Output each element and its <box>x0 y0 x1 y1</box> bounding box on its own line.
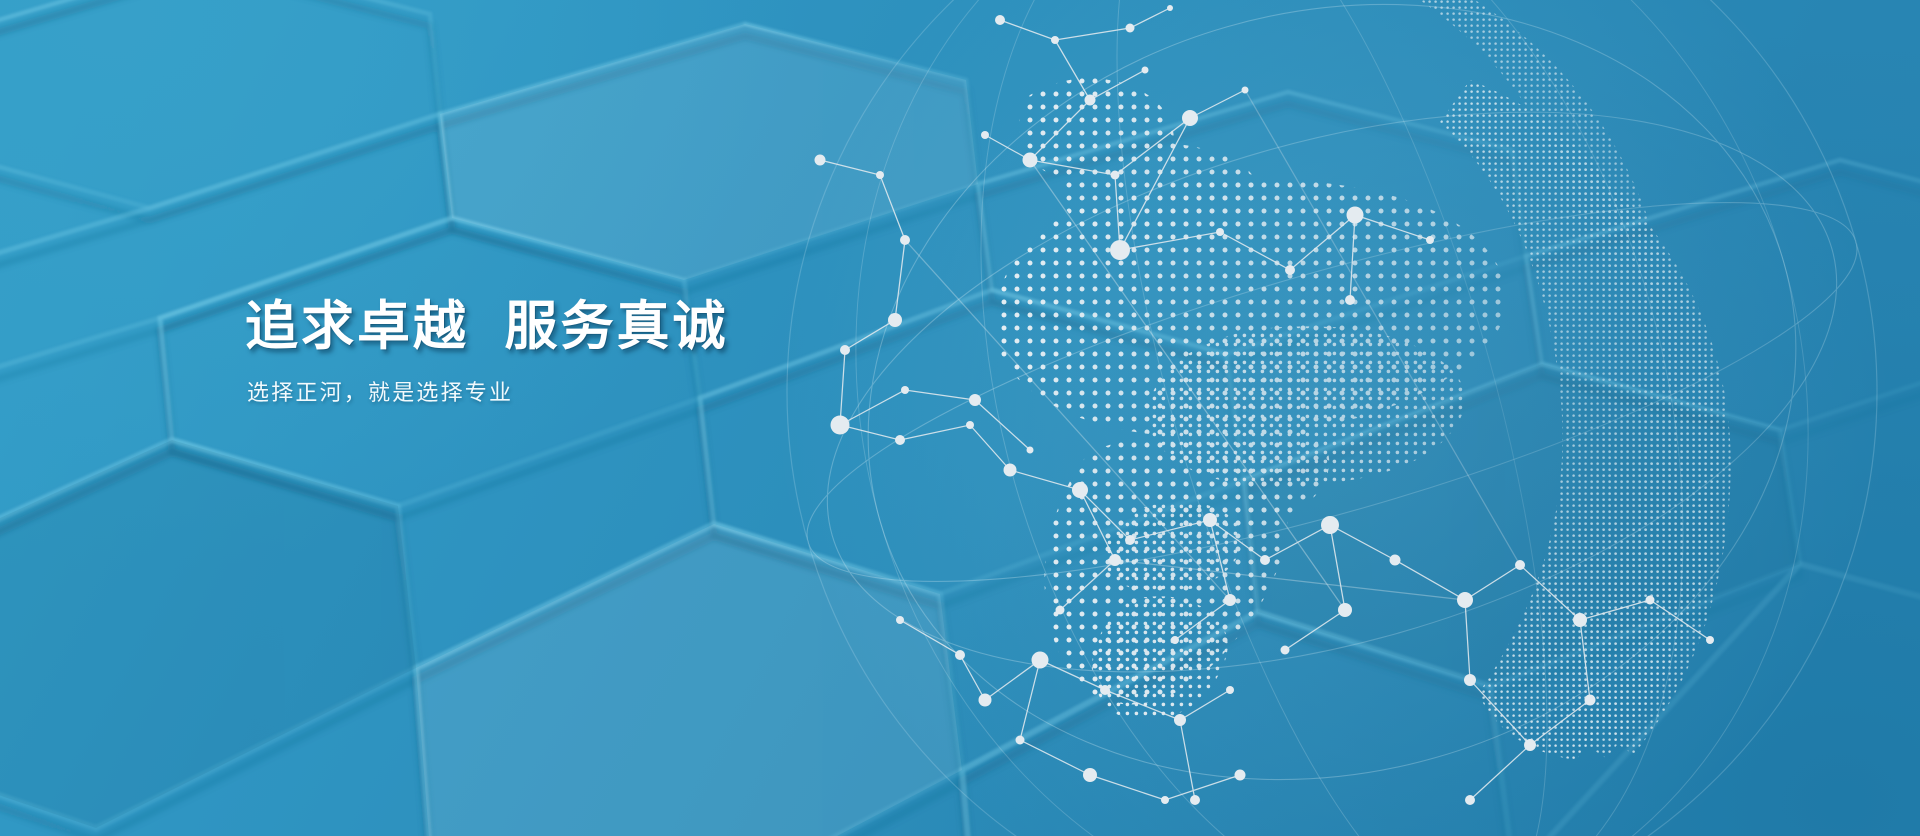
globe-graphic <box>0 0 1920 836</box>
hero-copy: 追求卓越 服务真诚 选择正河，就是选择专业 <box>245 296 728 407</box>
banner-stage: 追求卓越 服务真诚 选择正河，就是选择专业 <box>0 0 1920 836</box>
page-subtitle: 选择正河，就是选择专业 <box>247 379 728 408</box>
page-title: 追求卓越 服务真诚 <box>245 296 728 359</box>
